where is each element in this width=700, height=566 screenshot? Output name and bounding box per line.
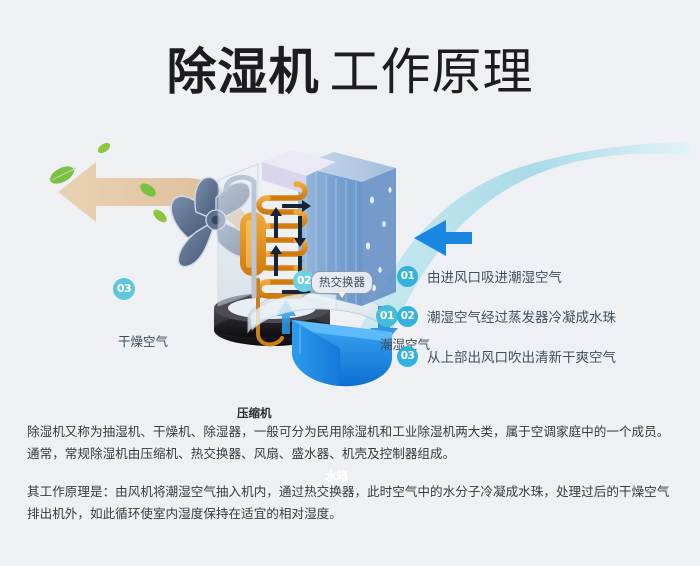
page-title: 除湿机工作原理	[0, 32, 700, 104]
step-badge-03: 03	[397, 346, 418, 367]
page-root: 除湿机工作原理	[0, 0, 700, 566]
page-title-light: 工作原理	[330, 43, 534, 101]
step-text-03: 从上部出风口吹出清新干爽空气	[427, 346, 616, 366]
callout-heat-exchanger: 热交换器	[311, 271, 373, 294]
paragraph-2: 其工作原理是：由风机将潮湿空气抽入机内，通过热交换器，此时空气中的水分子冷凝成水…	[27, 481, 675, 525]
page-title-bold: 除湿机	[167, 43, 320, 101]
steps-list: 01 由进风口吸进潮湿空气 02 潮湿空气经过蒸发器冷凝成水珠 03 从上部出风…	[397, 256, 687, 376]
step-text-01: 由进风口吸进潮湿空气	[427, 266, 562, 286]
body-copy: 除湿机又称为抽湿机、干燥机、除湿器，一般可分为民用除湿机和工业除湿机两大类，属于…	[27, 421, 675, 525]
paragraph-1: 除湿机又称为抽湿机、干燥机、除湿器，一般可分为民用除湿机和工业除湿机两大类，属于…	[27, 421, 675, 465]
list-item: 01 由进风口吸进潮湿空气	[397, 256, 687, 296]
diagram-badge-01: 01	[376, 305, 398, 327]
step-text-02: 潮湿空气经过蒸发器冷凝成水珠	[427, 306, 616, 326]
label-dry-air: 干燥空气	[118, 331, 168, 350]
step-badge-01: 01	[397, 266, 418, 287]
label-compressor: 压缩机	[237, 405, 272, 421]
diagram-badge-03: 03	[113, 278, 135, 300]
step-badge-02: 02	[397, 306, 418, 327]
list-item: 02 潮湿空气经过蒸发器冷凝成水珠	[397, 296, 687, 336]
list-item: 03 从上部出风口吹出清新干爽空气	[397, 336, 687, 376]
